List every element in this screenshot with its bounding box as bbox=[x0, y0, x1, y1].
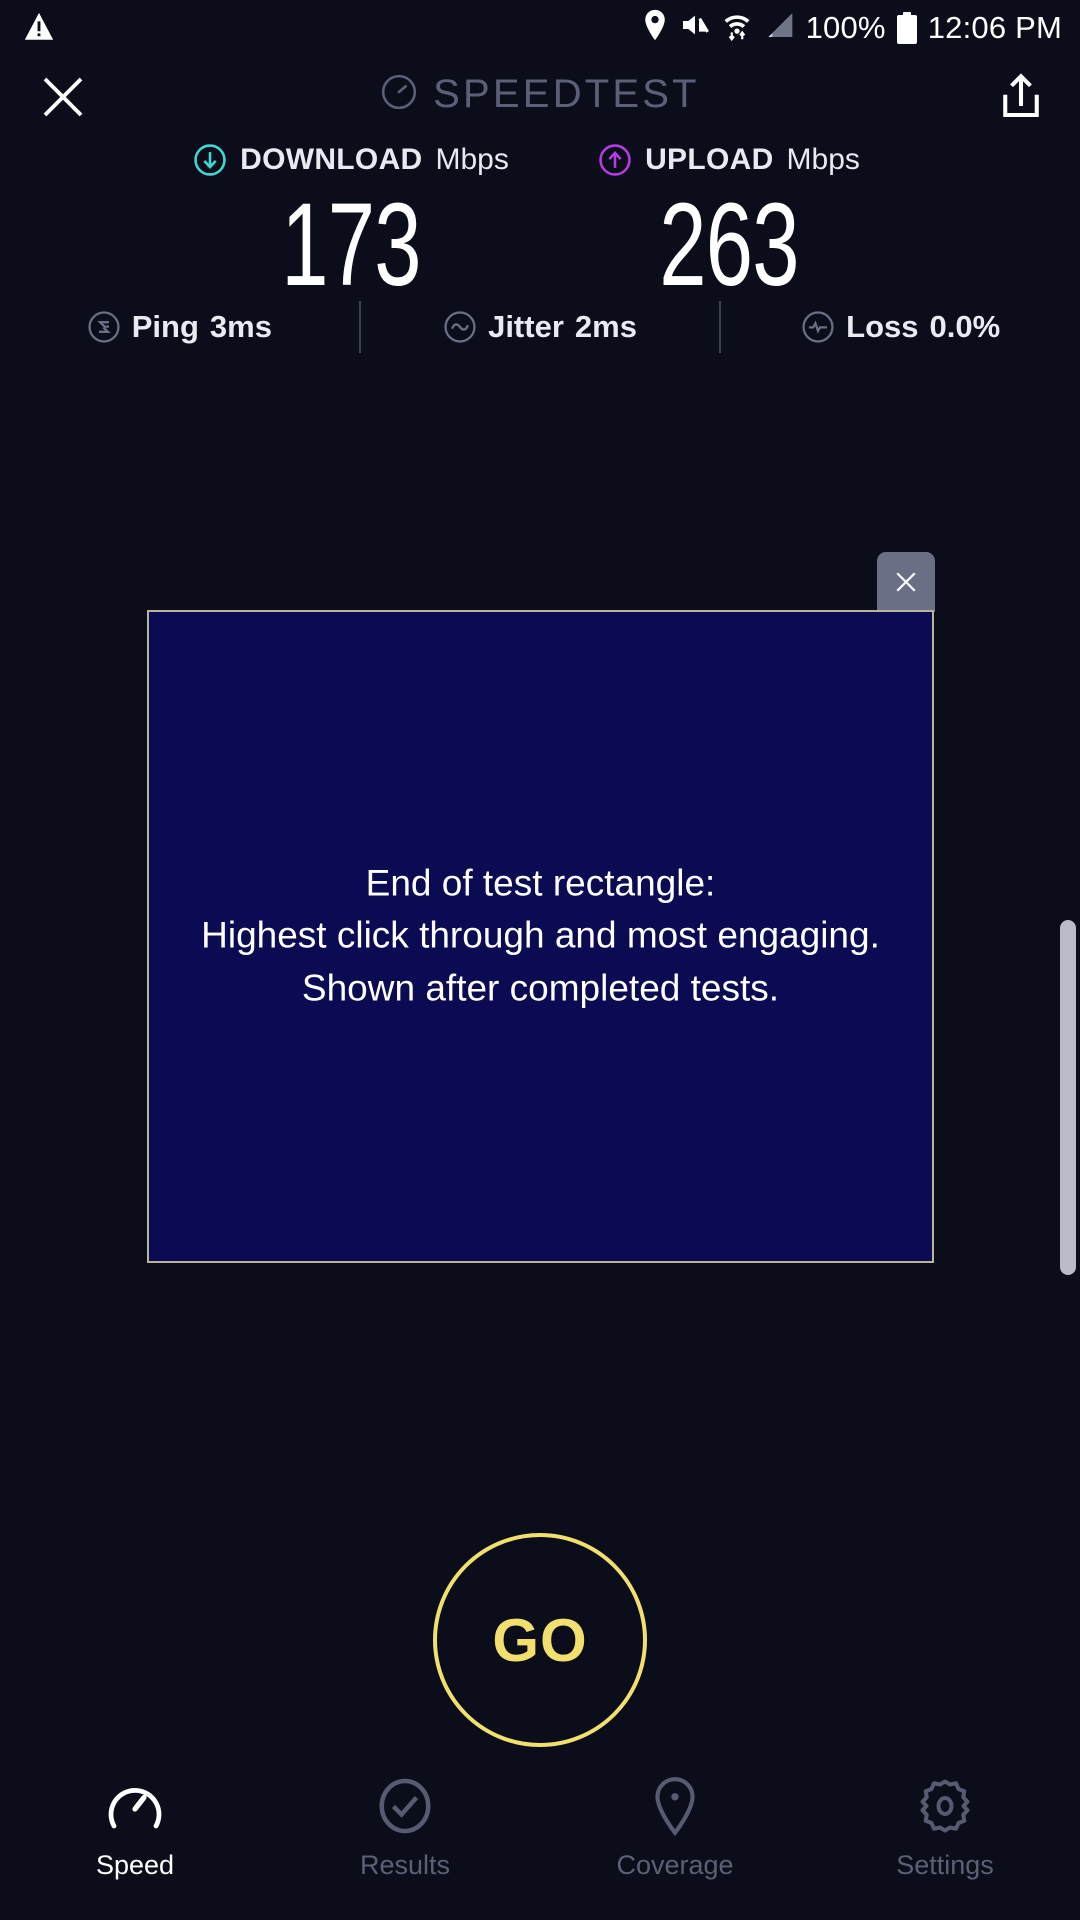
nav-item-speed[interactable]: Speed bbox=[0, 1776, 270, 1881]
metric-loss: Loss 0.0% bbox=[721, 309, 1080, 345]
download-label: DOWNLOAD bbox=[240, 143, 422, 177]
nav-item-results[interactable]: Results bbox=[270, 1776, 540, 1881]
clock-label: 12:06 PM bbox=[928, 10, 1062, 46]
ad-text-block: End of test rectangle: Highest click thr… bbox=[149, 857, 932, 1016]
advertisement-container: End of test rectangle: Highest click thr… bbox=[147, 610, 934, 1263]
speedometer-icon bbox=[105, 1776, 165, 1836]
ping-icon bbox=[87, 310, 121, 344]
advertisement-banner[interactable]: End of test rectangle: Highest click thr… bbox=[147, 610, 934, 1263]
download-result: DOWNLOAD Mbps 173 bbox=[166, 138, 536, 309]
upload-label: UPLOAD bbox=[645, 143, 773, 177]
speed-results: DOWNLOAD Mbps 173 UPLOAD Mbps 263 bbox=[0, 138, 1080, 309]
ad-line-3: Shown after completed tests. bbox=[165, 963, 916, 1016]
location-pin-icon bbox=[642, 8, 668, 47]
status-bar-right-cluster: 100% 12:06 PM bbox=[642, 8, 1062, 47]
speedometer-icon bbox=[380, 73, 418, 116]
gear-icon bbox=[915, 1776, 975, 1836]
share-icon[interactable] bbox=[994, 70, 1048, 124]
arrow-up-circle-icon bbox=[598, 143, 632, 177]
brand-title: SPEEDTEST bbox=[0, 72, 1080, 117]
metric-ping: Ping 3ms bbox=[0, 309, 359, 345]
arrow-down-circle-icon bbox=[193, 143, 227, 177]
page-title: SPEEDTEST bbox=[433, 72, 700, 117]
nav-label-results: Results bbox=[360, 1850, 450, 1881]
metric-loss-label: Loss bbox=[846, 309, 918, 345]
nav-label-settings: Settings bbox=[896, 1850, 994, 1881]
mute-icon bbox=[679, 9, 711, 46]
upload-unit: Mbps bbox=[787, 143, 860, 177]
vertical-scrollbar[interactable] bbox=[1060, 920, 1076, 1275]
loss-icon bbox=[801, 310, 835, 344]
ad-line-2: Highest click through and most engaging. bbox=[165, 910, 916, 963]
nav-item-coverage[interactable]: Coverage bbox=[540, 1776, 810, 1881]
check-circle-icon bbox=[375, 1776, 435, 1836]
status-bar: 100% 12:06 PM bbox=[0, 0, 1080, 58]
nav-label-speed: Speed bbox=[96, 1850, 174, 1881]
upload-value: 263 bbox=[596, 182, 862, 309]
metric-ping-value: 3ms bbox=[210, 309, 272, 345]
map-pin-icon bbox=[645, 1776, 705, 1836]
network-metrics-row: Ping 3ms Jitter 2ms Loss 0.0 bbox=[0, 298, 1080, 356]
metric-ping-label: Ping bbox=[132, 309, 199, 345]
ad-line-1: End of test rectangle: bbox=[165, 857, 916, 910]
app-header: SPEEDTEST bbox=[0, 58, 1080, 138]
metric-jitter-label: Jitter bbox=[488, 309, 564, 345]
upload-result: UPLOAD Mbps 263 bbox=[544, 138, 914, 309]
jitter-icon bbox=[443, 310, 477, 344]
cell-signal-icon bbox=[763, 9, 795, 46]
download-unit: Mbps bbox=[436, 143, 509, 177]
battery-percent-label: 100% bbox=[806, 10, 886, 46]
nav-label-coverage: Coverage bbox=[616, 1850, 733, 1881]
battery-full-icon bbox=[897, 12, 917, 44]
download-value: 173 bbox=[218, 182, 484, 309]
bottom-navigation-bar: Speed Results Coverage bbox=[0, 1760, 1080, 1920]
ad-close-button[interactable] bbox=[877, 552, 935, 612]
wifi-icon bbox=[722, 8, 752, 47]
nav-item-settings[interactable]: Settings bbox=[810, 1776, 1080, 1881]
metric-jitter-value: 2ms bbox=[575, 309, 637, 345]
metric-loss-value: 0.0% bbox=[930, 309, 1001, 345]
speedtest-app-screen: 100% 12:06 PM SPEEDTEST bbox=[0, 0, 1080, 1920]
metric-jitter: Jitter 2ms bbox=[361, 309, 720, 345]
warning-triangle-icon bbox=[22, 10, 56, 49]
go-button[interactable]: GO bbox=[433, 1533, 647, 1747]
go-button-label: GO bbox=[492, 1606, 587, 1675]
